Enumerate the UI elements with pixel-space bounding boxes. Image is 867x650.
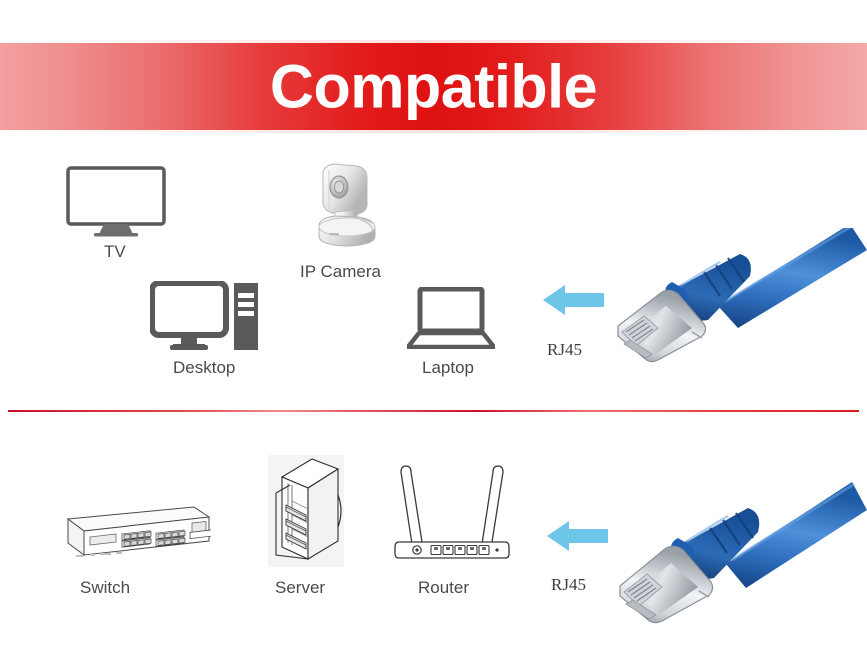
- server-rack-icon: [268, 455, 344, 572]
- ip-camera-icon: [305, 160, 385, 257]
- section-divider: [8, 410, 859, 412]
- rj45-patch-cable-bottom: [600, 480, 867, 635]
- page-title: Compatible: [0, 56, 867, 117]
- left-arrow-icon: [543, 282, 605, 323]
- network-switch-icon: [46, 497, 211, 572]
- tv-label: TV: [104, 242, 126, 262]
- desktop-label: Desktop: [173, 358, 235, 378]
- router-label: Router: [418, 578, 469, 598]
- laptop-label: Laptop: [422, 358, 474, 378]
- laptop-icon: [407, 287, 495, 354]
- rj45-patch-cable-top: [600, 228, 867, 373]
- rj45-label-top: RJ45: [547, 340, 582, 360]
- ip-camera-label: IP Camera: [300, 262, 381, 282]
- switch-label: Switch: [80, 578, 130, 598]
- desktop-computer-icon: [150, 281, 260, 358]
- wifi-router-icon: [393, 458, 511, 571]
- server-label: Server: [275, 578, 325, 598]
- compatible-banner: Compatible: [0, 43, 867, 130]
- rj45-label-bottom: RJ45: [551, 575, 586, 595]
- tv-icon: [66, 166, 166, 243]
